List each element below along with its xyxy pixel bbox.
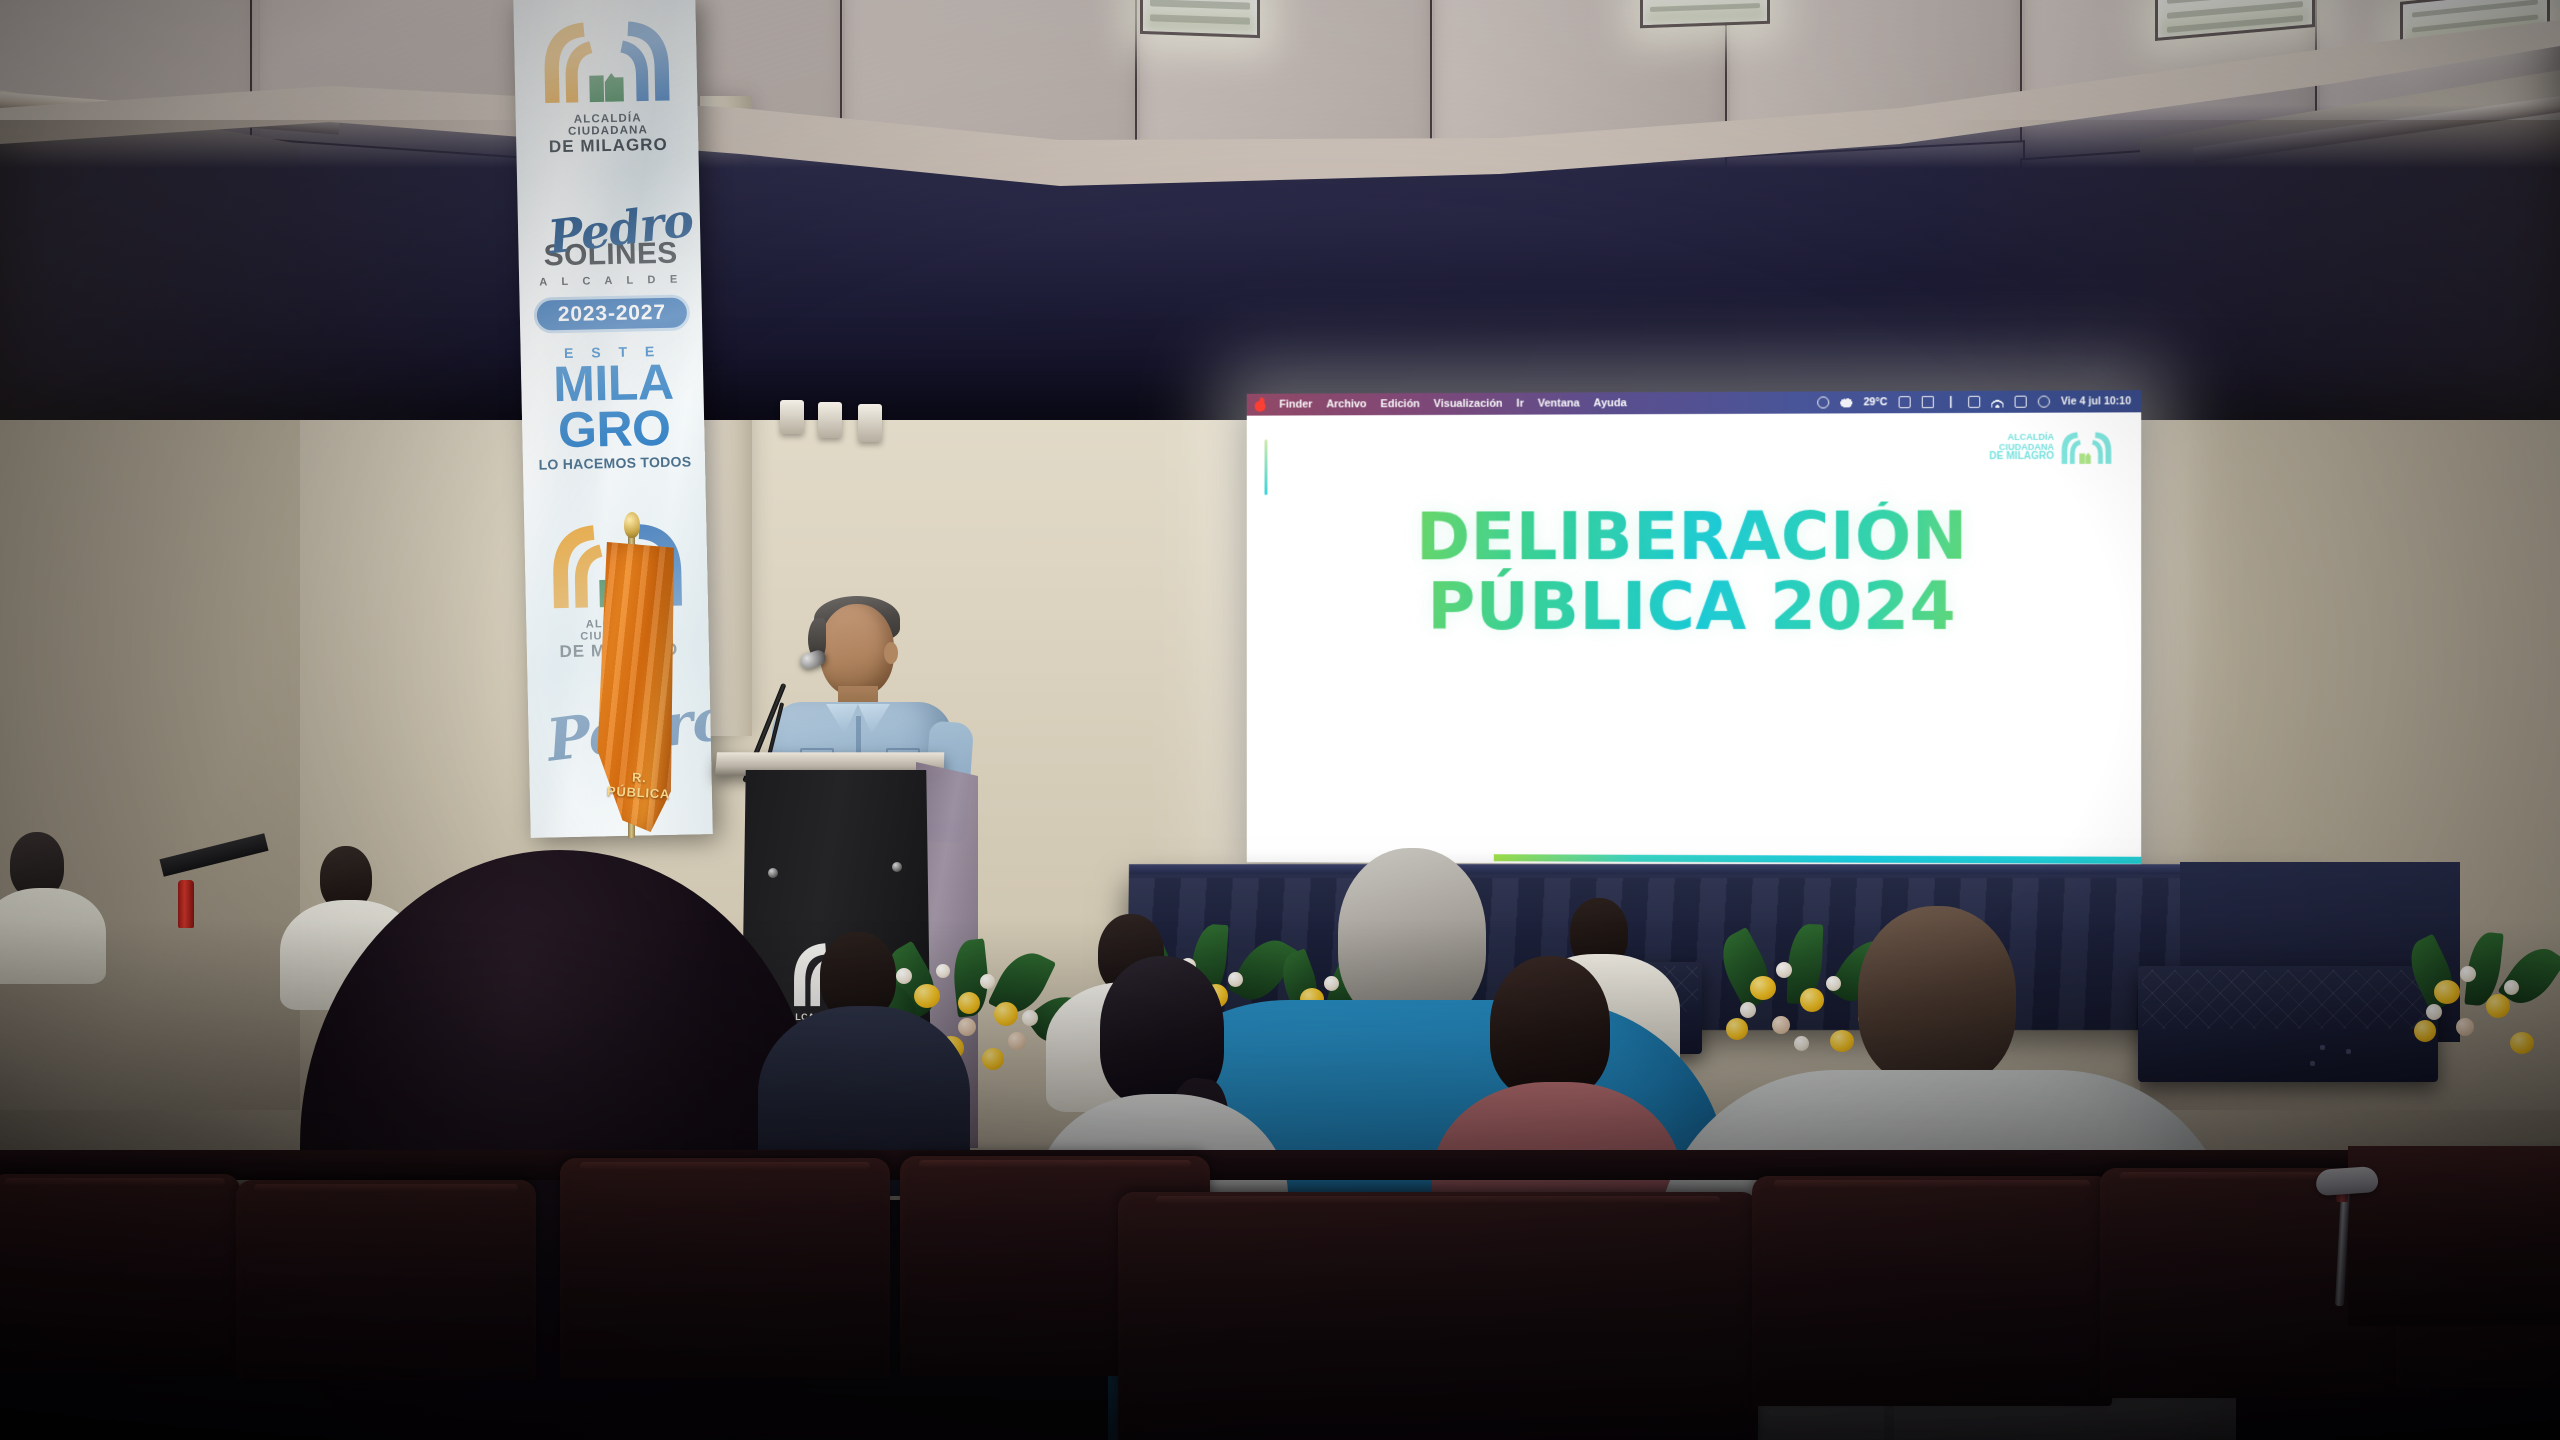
- flag-finial: [624, 512, 640, 538]
- auditorium-chair: [236, 1180, 536, 1380]
- control-center-icon[interactable]: [2014, 396, 2026, 408]
- auditorium-chair: [560, 1158, 890, 1378]
- slide-canvas: ALCALDÍA CIUDADANA DE MILAGRO DELIBERACI…: [1247, 412, 2141, 866]
- menu-item-edicion[interactable]: Edición: [1381, 398, 1420, 410]
- menu-item-ventana[interactable]: Ventana: [1538, 397, 1580, 409]
- menubar-clock[interactable]: Vie 4 jul 10:10: [2061, 395, 2131, 407]
- ceiling-light-panel: [1640, 0, 1770, 28]
- fire-extinguisher-icon: [178, 880, 194, 928]
- banner-logo-top: ALCALDÍA CIUDADANA DE MILAGRO: [540, 17, 675, 157]
- slide-title: DELIBERACIÓN PÚBLICA 2024: [1247, 501, 2141, 642]
- speaker-ear: [884, 642, 898, 664]
- menu-item-ayuda[interactable]: Ayuda: [1594, 397, 1627, 409]
- auditorium-scene: ALCALDÍA CIUDADANA DE MILAGRO Pedro SOLI…: [0, 0, 2560, 1440]
- slogan-tagline: LO HACEMOS TODOS: [535, 453, 695, 472]
- podium-screw: [768, 868, 778, 878]
- display-icon[interactable]: [1921, 396, 1933, 408]
- banner-logo-line2: DE MILAGRO: [542, 136, 674, 157]
- slide-title-line1: DELIBERACIÓN: [1247, 501, 2141, 572]
- apple-logo-icon[interactable]: [1255, 398, 1266, 411]
- auditorium-chair: [1752, 1176, 2112, 1406]
- auditorium-chair: [0, 1174, 240, 1374]
- mayor-term-badge: 2023-2027: [533, 294, 690, 333]
- wall-sconce: [818, 402, 842, 438]
- audience-head-grey-hair: [1338, 848, 1486, 1024]
- mayor-role: A L C A L D E: [533, 273, 689, 288]
- flag-text: R. PÚBLICA: [603, 768, 674, 802]
- menu-item-visualizacion[interactable]: Visualización: [1434, 398, 1503, 410]
- audience-head: [1490, 956, 1610, 1098]
- wifi-icon[interactable]: [1991, 396, 2003, 408]
- menu-item-finder[interactable]: Finder: [1279, 399, 1312, 411]
- seat-row-rail: [2348, 1146, 2560, 1326]
- slide-logo: ALCALDÍA CIUDADANA DE MILAGRO: [1989, 431, 2112, 466]
- milagro-arc-logo-icon: [2060, 431, 2113, 465]
- slide-logo-line3: DE MILAGRO: [1989, 452, 2054, 463]
- slogan-word2: GRO: [534, 404, 695, 453]
- siri-icon[interactable]: [2038, 396, 2050, 408]
- audience-shoulders: [0, 888, 106, 984]
- auditorium-chair: [1118, 1192, 1758, 1440]
- podium-screw: [892, 862, 902, 872]
- menu-item-ir[interactable]: Ir: [1516, 398, 1523, 410]
- banner-slogan-block: E S T E MILA GRO LO HACEMOS TODOS: [533, 342, 696, 472]
- wall-sconce: [858, 404, 882, 442]
- slide-title-line2: PÚBLICA 2024: [1247, 572, 2141, 643]
- projection-screen: Finder Archivo Edición Visualización Ir …: [1247, 390, 2141, 866]
- bluetooth-icon[interactable]: [1945, 396, 1957, 408]
- screen-mirroring-icon[interactable]: [1817, 396, 1829, 408]
- menu-item-archivo[interactable]: Archivo: [1326, 398, 1366, 410]
- wall-sconce: [780, 400, 804, 434]
- audience-head-short-hair: [1858, 906, 2016, 1086]
- flower-arrangement: [2400, 936, 2560, 1086]
- ceiling-light-panel: [1140, 0, 1260, 38]
- walking-cane-icon: [2315, 1166, 2379, 1196]
- airdrop-icon[interactable]: [1898, 396, 1910, 408]
- banner-mayor-block: Pedro SOLINES A L C A L D E 2023-2027: [532, 209, 690, 333]
- milagro-arc-logo-icon: [540, 17, 674, 106]
- mayor-script-name: Pedro: [546, 202, 690, 256]
- battery-icon[interactable]: [1968, 396, 1980, 408]
- slide-accent-line: [1265, 439, 1268, 495]
- speaker-head: [820, 604, 894, 696]
- pa-speaker: [2138, 966, 2438, 1082]
- menubar-status-area[interactable]: 29°C Vie 4 jul 10:10: [1817, 395, 2133, 408]
- cloud-weather-icon[interactable]: [1841, 396, 1853, 408]
- slide-bottom-accent-bar: [1494, 854, 2141, 864]
- weather-temperature: 29°C: [1864, 396, 1888, 408]
